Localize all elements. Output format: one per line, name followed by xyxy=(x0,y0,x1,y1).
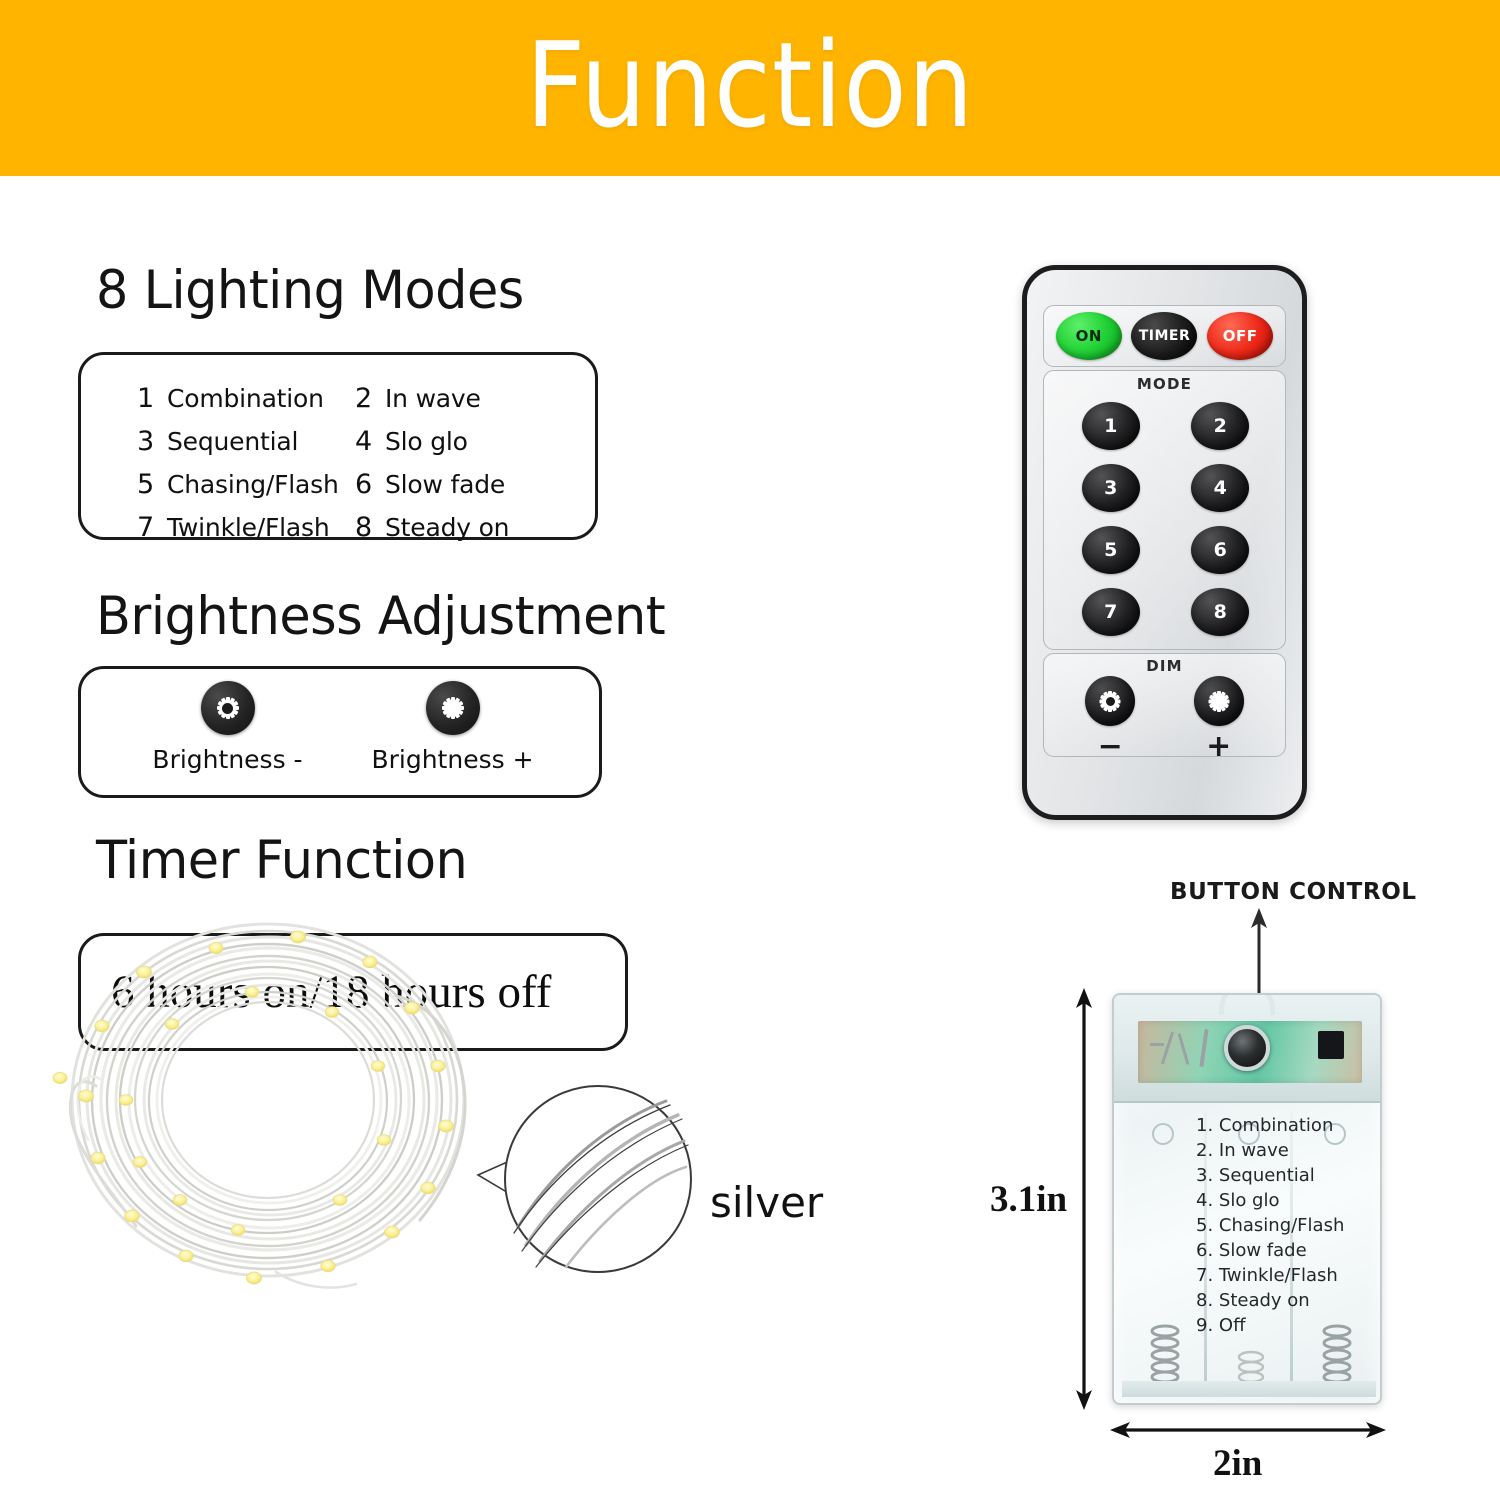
modes-box: 1 Combination 2 In wave 3 Sequential 4 S… xyxy=(78,352,598,540)
mode-panel-label: MODE xyxy=(1044,375,1285,393)
mode-button-grid: 1 2 3 4 5 6 7 8 xyxy=(1056,395,1275,643)
mode-item: 7 Twinkle/Flash xyxy=(137,512,355,543)
page-title: Function xyxy=(526,26,975,144)
mode-label: Combination xyxy=(167,384,324,413)
remote-dim-panel: DIM − xyxy=(1043,653,1286,757)
remote-mode-button-8[interactable]: 8 xyxy=(1191,588,1249,636)
timer-heading: Timer Function xyxy=(96,830,467,891)
mode-item: 3 Sequential xyxy=(137,426,355,457)
silver-callout-label: silver xyxy=(710,1178,823,1227)
list-item: 4. Slo glo xyxy=(1196,1188,1376,1213)
mode-label: Chasing/Flash xyxy=(167,470,339,499)
wire-coil-image xyxy=(40,900,510,1300)
brightness-plus-item: Brightness + xyxy=(348,681,558,774)
mode-number: 5 xyxy=(137,469,167,500)
remote-on-button[interactable]: ON xyxy=(1056,312,1122,360)
power-button-row: ON TIMER OFF xyxy=(1044,306,1285,366)
button-control-callout-label: BUTTON CONTROL xyxy=(1170,879,1417,905)
list-item: 7. Twinkle/Flash xyxy=(1196,1263,1376,1288)
brightness-down-icon xyxy=(201,681,255,735)
remote-mode-button-7[interactable]: 7 xyxy=(1082,588,1140,636)
height-dimension-arrow-icon xyxy=(1072,988,1096,1410)
dim-panel-label: DIM xyxy=(1044,657,1285,675)
mode-number: 7 xyxy=(137,512,167,543)
brightness-minus-label: Brightness - xyxy=(152,745,302,774)
chip-icon xyxy=(1318,1031,1344,1059)
list-item: 1. Combination xyxy=(1196,1113,1376,1138)
magnifier-svg xyxy=(470,1075,730,1285)
dim-button-row: − + xyxy=(1044,676,1285,762)
mode-label: Slo glo xyxy=(385,427,468,456)
battery-floor xyxy=(1122,1381,1376,1397)
sun-core-hollow xyxy=(219,700,236,717)
battery-lid xyxy=(1114,995,1380,1103)
mode-number: 6 xyxy=(355,469,385,500)
sun-core-filled xyxy=(444,700,461,717)
list-item: 9. Off xyxy=(1196,1313,1376,1338)
brightness-heading: Brightness Adjustment xyxy=(96,586,665,647)
mode-label: Twinkle/Flash xyxy=(167,513,330,542)
mode-label: Steady on xyxy=(385,513,509,542)
remote-dim-down-icon[interactable] xyxy=(1085,676,1135,726)
wire-coil-svg xyxy=(40,900,510,1300)
brightness-plus-label: Brightness + xyxy=(371,745,533,774)
remote-control: ON TIMER OFF MODE 1 2 3 4 5 6 7 8 DIM xyxy=(1022,265,1307,820)
mode-number: 1 xyxy=(137,383,167,414)
width-dimension-arrow-icon xyxy=(1110,1418,1386,1442)
mode-label: Slow fade xyxy=(385,470,505,499)
dim-plus-sign: + xyxy=(1206,732,1231,762)
sun-core-hollow xyxy=(1103,694,1118,709)
mode-number: 3 xyxy=(137,426,167,457)
list-item: 2. In wave xyxy=(1196,1138,1376,1163)
mode-item: 1 Combination xyxy=(137,383,355,414)
list-item: 6. Slow fade xyxy=(1196,1238,1376,1263)
brightness-box: Brightness - Brightness + xyxy=(78,666,602,798)
remote-dim-up-icon[interactable] xyxy=(1194,676,1244,726)
battery-mode-list: 1. Combination 2. In wave 3. Sequential … xyxy=(1196,1113,1376,1338)
mode-number: 8 xyxy=(355,512,385,543)
modes-heading: 8 Lighting Modes xyxy=(96,260,524,321)
mode-item: 8 Steady on xyxy=(355,512,587,543)
brightness-up-icon xyxy=(426,681,480,735)
brightness-minus-item: Brightness - xyxy=(123,681,333,774)
header-banner: Function xyxy=(0,0,1500,176)
width-dimension-label: 2in xyxy=(1213,1442,1262,1485)
modes-grid: 1 Combination 2 In wave 3 Sequential 4 S… xyxy=(137,377,587,549)
remote-power-panel: ON TIMER OFF xyxy=(1043,305,1286,367)
dim-up-wrap: + xyxy=(1179,676,1259,762)
remote-mode-button-6[interactable]: 6 xyxy=(1191,526,1249,574)
mode-label: In wave xyxy=(385,384,481,413)
remote-mode-button-3[interactable]: 3 xyxy=(1082,464,1140,512)
mode-item: 2 In wave xyxy=(355,383,587,414)
dim-down-wrap: − xyxy=(1070,676,1150,762)
remote-mode-button-1[interactable]: 1 xyxy=(1082,402,1140,450)
height-dimension-label: 3.1in xyxy=(990,1178,1067,1221)
list-item: 3. Sequential xyxy=(1196,1163,1376,1188)
battery-spring-icon xyxy=(1148,1323,1182,1383)
battery-hanging-hook xyxy=(1219,993,1275,1015)
mode-number: 4 xyxy=(355,426,385,457)
remote-mode-panel: MODE 1 2 3 4 5 6 7 8 xyxy=(1043,370,1286,650)
remote-mode-button-5[interactable]: 5 xyxy=(1082,526,1140,574)
mode-number: 2 xyxy=(355,383,385,414)
dim-minus-sign: − xyxy=(1098,732,1123,762)
brightness-row: Brightness - Brightness + xyxy=(81,681,599,774)
mode-label: Sequential xyxy=(167,427,298,456)
list-item: 8. Steady on xyxy=(1196,1288,1376,1313)
mode-item: 4 Slo glo xyxy=(355,426,587,457)
wire-magnifier xyxy=(470,1075,730,1285)
remote-timer-button[interactable]: TIMER xyxy=(1131,312,1197,360)
infographic-page: Function 8 Lighting Modes 1 Combination … xyxy=(0,0,1500,1496)
sun-core-filled xyxy=(1211,694,1226,709)
remote-off-button[interactable]: OFF xyxy=(1207,312,1273,360)
battery-box: 1. Combination 2. In wave 3. Sequential … xyxy=(1112,993,1382,1405)
battery-push-button[interactable] xyxy=(1224,1025,1270,1071)
remote-mode-button-2[interactable]: 2 xyxy=(1191,402,1249,450)
mode-item: 6 Slow fade xyxy=(355,469,587,500)
list-item: 5. Chasing/Flash xyxy=(1196,1213,1376,1238)
mode-item: 5 Chasing/Flash xyxy=(137,469,355,500)
remote-mode-button-4[interactable]: 4 xyxy=(1191,464,1249,512)
